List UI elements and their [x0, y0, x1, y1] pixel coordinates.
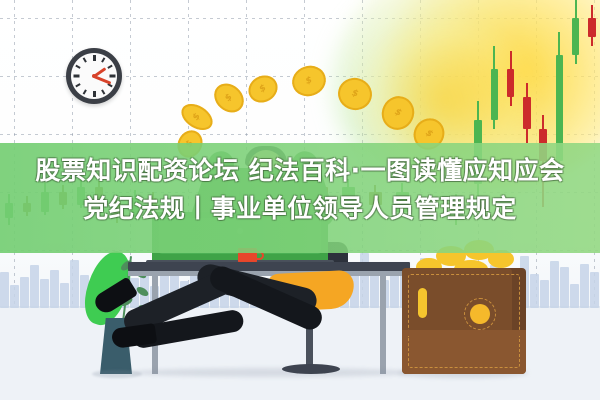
clock-tick [75, 65, 80, 69]
bar-chart-bar [530, 274, 539, 308]
coin-symbol: $ [258, 83, 268, 95]
clock-tick [101, 89, 105, 94]
candlestick-body [523, 97, 530, 129]
bar-chart-bar [570, 284, 579, 308]
clock-center-pin [92, 74, 96, 78]
candlestick-body [588, 18, 595, 36]
headline-text: 股票知识配资论坛 纪法百科·一图读懂应知应会 党纪法规丨事业单位领导人员管理规定 [0, 152, 600, 228]
bar-chart-bar [20, 277, 29, 309]
coin-symbol: $ [191, 112, 203, 123]
chair-base [282, 364, 340, 374]
clock-tick [83, 57, 87, 62]
clock-tick [83, 89, 87, 94]
bar-chart-bar [590, 272, 599, 308]
clock-tick [107, 65, 112, 69]
bar-chart-bar [370, 275, 379, 308]
candlestick-body [572, 18, 579, 55]
bar-chart-bar [550, 261, 559, 308]
bar-chart-bar [10, 285, 19, 308]
wallet-clasp-button [470, 304, 490, 324]
wallet-flap-stitching [408, 336, 520, 368]
bar-chart-bar [70, 260, 79, 308]
headline-line-1: 股票知识配资论坛 纪法百科·一图读懂应知应会 [0, 152, 600, 190]
headline-line-2: 党纪法规丨事业单位领导人员管理规定 [0, 190, 600, 228]
bar-chart-bar [580, 264, 589, 308]
desk-leg-right [380, 276, 386, 374]
bar-chart-bar [40, 279, 49, 308]
desk-top [128, 262, 410, 271]
bar-chart-bar [560, 267, 569, 308]
clock-tick [109, 75, 115, 78]
coin-symbol: $ [424, 128, 435, 140]
wallet-card-tab [418, 288, 427, 318]
banner-illustration: $$$$$$$$ 股票知识配资论坛 纪法百科·一图读懂应知应会 党纪法规丨事业单… [0, 0, 600, 400]
coin-symbol: $ [223, 92, 235, 103]
clock-face [71, 53, 117, 99]
candlestick-body [491, 69, 498, 120]
clock-tick [101, 57, 105, 62]
desk-apron [128, 271, 410, 276]
wall-clock [66, 48, 122, 104]
clock-tick [93, 55, 96, 61]
bar-chart-bar [540, 280, 549, 308]
bar-chart-bar [0, 272, 9, 308]
bar-chart-bar [50, 270, 59, 308]
coin-symbol: $ [304, 75, 313, 86]
bar-chart-bar [60, 283, 69, 308]
candlestick-body [507, 69, 514, 97]
coin-symbol: $ [393, 107, 403, 119]
clock-tick [93, 91, 96, 97]
bar-chart-bar [30, 265, 39, 308]
coin-symbol: $ [351, 88, 359, 99]
clock-tick [73, 75, 79, 78]
clock-tick [75, 83, 80, 87]
desk-shadow [132, 368, 412, 377]
